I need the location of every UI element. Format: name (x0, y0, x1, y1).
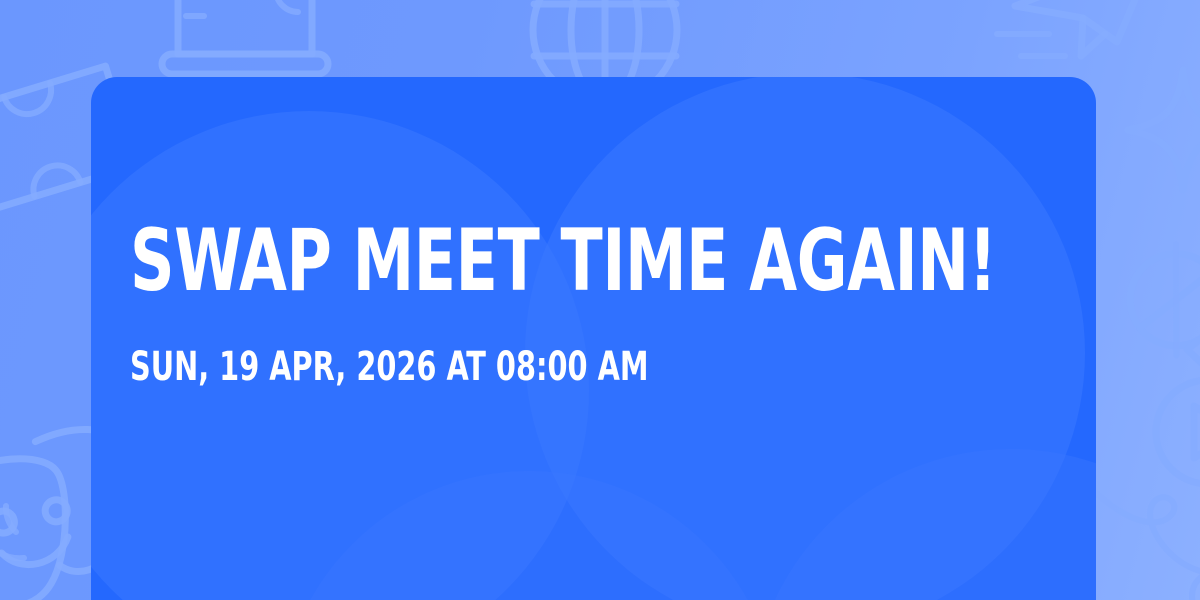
decorative-circle-bottom-right (751, 449, 1096, 600)
play-circle-icon (1148, 372, 1200, 492)
event-banner: Swap Meet Time Again! Sun, 19 Apr, 2026 … (0, 0, 1200, 600)
card-content: Swap Meet Time Again! Sun, 19 Apr, 2026 … (91, 77, 1096, 387)
event-title: Swap Meet Time Again! (130, 220, 903, 303)
decorative-circle-bottom-left (279, 471, 779, 600)
event-date: Sun, 19 Apr, 2026 at 08:00 AM (130, 347, 903, 387)
swirl-line-icon (1098, 468, 1200, 600)
event-card: Swap Meet Time Again! Sun, 19 Apr, 2026 … (91, 77, 1096, 600)
sparkle-icon (1118, 60, 1200, 200)
microphone-icon (1128, 228, 1200, 398)
